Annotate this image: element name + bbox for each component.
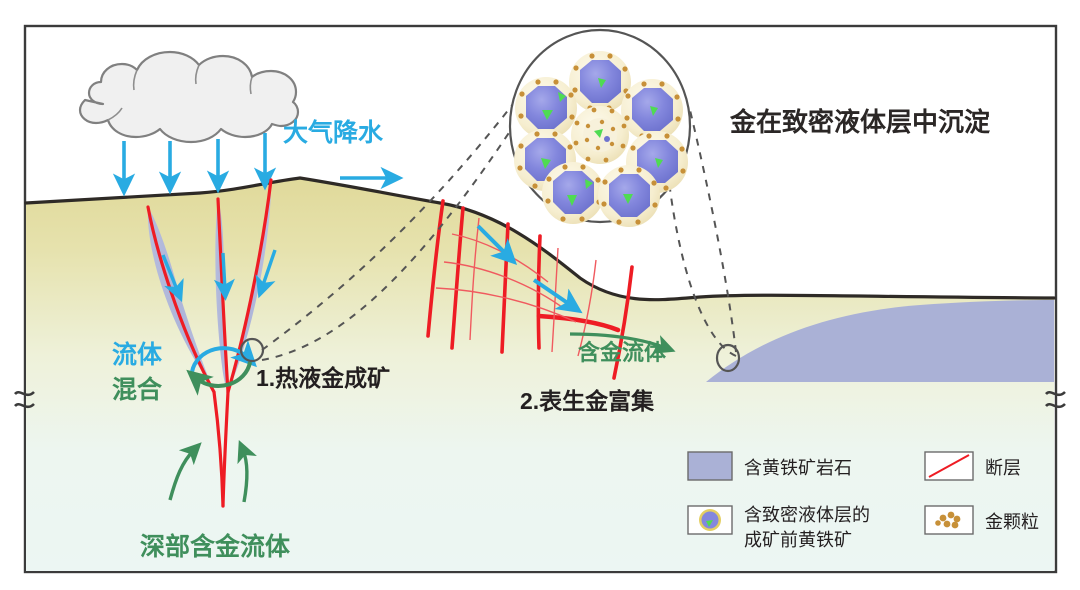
label-deep-gold-fluid: 深部含金流体 [140,532,291,561]
label-fluid-mixing-2: 混合 [112,375,163,404]
pre-ore-pyrite-icon [699,509,721,531]
legend-swatch-pyrite-rock [688,452,732,480]
pyrite-grain [542,162,604,224]
label-precipitation: 大气降水 [283,118,384,147]
label-gold-bearing-fluid: 含金流体 [578,340,667,365]
pyrite-grain-center [571,106,629,164]
label-fluid-mixing-1: 流体 [112,341,163,369]
legend-label-gold-grain: 金颗粒 [985,512,1039,532]
pyrite-grain [598,165,660,227]
legend-label-pre-ore-pyrite-1: 含致密液体层的 [744,505,870,525]
label-stage-1: 1.热液金成矿 [256,365,390,391]
label-stage-2: 2.表生金富集 [520,388,655,414]
legend-label-fault: 断层 [985,458,1021,478]
label-inset-title: 金在致密液体层中沉淀 [729,107,991,137]
legend-label-pre-ore-pyrite-2: 成矿前黄铁矿 [744,530,852,550]
legend-label-pyrite-rock: 含黄铁矿岩石 [744,458,852,478]
diagram-canvas: 大气降水 金在致密液体层中沉淀 流体 混合 1.热液金成矿 2.表生金富集 含金… [0,0,1080,590]
legend-swatch-gold-grain [925,506,973,534]
